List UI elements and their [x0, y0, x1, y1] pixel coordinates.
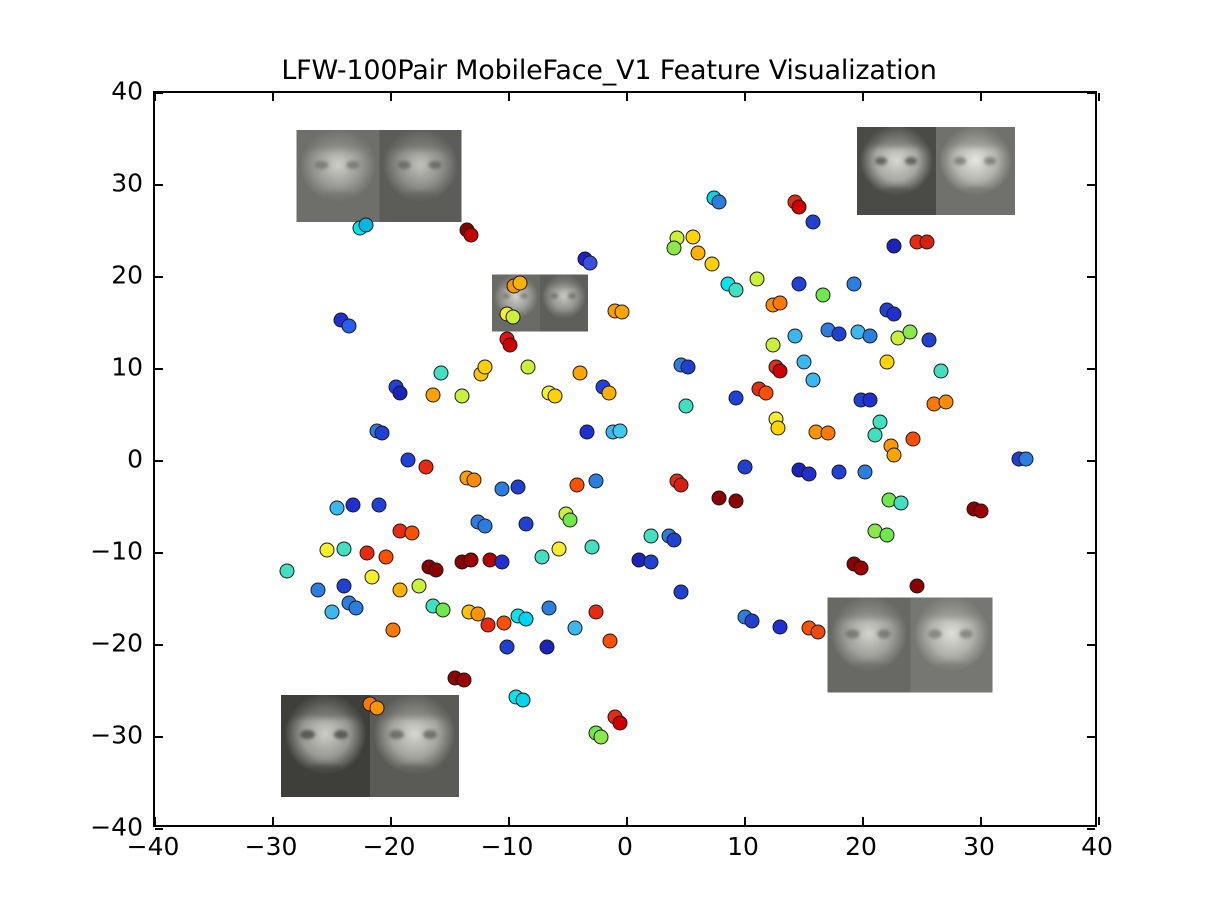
scatter-point: [336, 579, 351, 594]
face-thumb-left: [857, 127, 936, 215]
y-axis-tick-label: −10: [90, 537, 143, 566]
scatter-point: [589, 474, 604, 489]
y-axis-tick: [155, 184, 163, 186]
y-axis-tick: [155, 644, 163, 646]
scatter-point: [499, 639, 514, 654]
scatter-point: [497, 615, 512, 630]
scatter-point: [832, 465, 847, 480]
scatter-point: [612, 423, 627, 438]
scatter-point: [603, 634, 618, 649]
scatter-point: [879, 527, 894, 542]
scatter-point: [712, 194, 727, 209]
scatter-point: [365, 569, 380, 584]
scatter-point: [674, 477, 689, 492]
y-axis-tick-label: 20: [111, 261, 143, 290]
scatter-point: [612, 716, 627, 731]
x-axis-tick: [980, 817, 982, 825]
y-axis-tick: [1087, 736, 1095, 738]
scatter-point: [336, 542, 351, 557]
scatter-point: [667, 240, 682, 255]
scatter-point: [320, 543, 335, 558]
scatter-point: [583, 256, 598, 271]
scatter-point: [563, 512, 578, 527]
y-axis-tick: [1087, 92, 1095, 94]
scatter-point: [325, 604, 340, 619]
scatter-point: [551, 542, 566, 557]
scatter-point: [643, 529, 658, 544]
scatter-point: [503, 338, 518, 353]
x-axis-tick: [980, 93, 982, 101]
scatter-point: [806, 373, 821, 388]
scatter-point: [903, 325, 918, 340]
scatter-point: [512, 276, 527, 291]
scatter-point: [643, 555, 658, 570]
y-axis-tick: [155, 736, 163, 738]
scatter-point: [405, 525, 420, 540]
scatter-point: [728, 494, 743, 509]
scatter-point: [766, 338, 781, 353]
scatter-point: [516, 693, 531, 708]
scatter-point: [820, 426, 835, 441]
scatter-point: [679, 398, 694, 413]
x-axis-tick: [1098, 93, 1100, 101]
y-axis-tick-label: −40: [90, 813, 143, 842]
scatter-plot-area[interactable]: [155, 93, 1095, 825]
y-axis-tick: [1087, 368, 1095, 370]
scatter-point: [1018, 452, 1033, 467]
x-axis-tick: [626, 817, 628, 825]
x-axis-tick: [626, 93, 628, 101]
y-axis-tick: [155, 552, 163, 554]
face-thumb-left: [297, 130, 380, 222]
scatter-point: [412, 579, 427, 594]
x-axis-tick: [390, 93, 392, 101]
x-axis-tick-label: 0: [617, 832, 633, 861]
y-axis-tick: [1087, 460, 1095, 462]
scatter-point: [589, 604, 604, 619]
scatter-point: [379, 549, 394, 564]
y-axis-tick: [1087, 552, 1095, 554]
scatter-point: [938, 395, 953, 410]
scatter-point: [974, 503, 989, 518]
scatter-point: [480, 617, 495, 632]
scatter-point: [728, 391, 743, 406]
scatter-point: [832, 327, 847, 342]
scatter-point: [433, 365, 448, 380]
face-pair-thumb-top-right: [857, 127, 1015, 215]
scatter-point: [704, 257, 719, 272]
x-axis-tick-label: 10: [727, 832, 759, 861]
scatter-point: [690, 246, 705, 261]
scatter-point: [867, 428, 882, 443]
scatter-point: [386, 623, 401, 638]
x-axis-tick: [862, 93, 864, 101]
x-axis-tick: [390, 817, 392, 825]
scatter-point: [893, 496, 908, 511]
y-axis-tick: [155, 828, 163, 830]
x-axis-tick: [744, 93, 746, 101]
face-thumb-left: [281, 695, 370, 797]
scatter-point: [535, 549, 550, 564]
scatter-point: [933, 363, 948, 378]
scatter-point: [435, 603, 450, 618]
scatter-point: [369, 700, 384, 715]
y-axis-tick: [1087, 828, 1095, 830]
scatter-point: [548, 388, 563, 403]
x-axis-tick-label: −10: [481, 832, 534, 861]
scatter-point: [863, 328, 878, 343]
scatter-point: [792, 200, 807, 215]
scatter-point: [478, 360, 493, 375]
scatter-point: [674, 584, 689, 599]
scatter-point: [728, 282, 743, 297]
x-axis-tick-label: 30: [963, 832, 995, 861]
scatter-point: [759, 385, 774, 400]
scatter-point: [712, 490, 727, 505]
face-thumb-right: [540, 274, 588, 331]
scatter-point: [584, 540, 599, 555]
x-axis-tick: [154, 817, 156, 825]
x-axis-tick: [272, 93, 274, 101]
scatter-point: [905, 431, 920, 446]
scatter-point: [792, 277, 807, 292]
scatter-point: [478, 519, 493, 534]
scatter-point: [374, 426, 389, 441]
scatter-point: [594, 730, 609, 745]
y-axis-tick: [1087, 644, 1095, 646]
face-pair-thumb-bottom-right: [828, 598, 993, 693]
x-axis-tick: [508, 93, 510, 101]
scatter-point: [858, 465, 873, 480]
x-axis-tick: [1098, 817, 1100, 825]
face-thumb-left: [828, 598, 911, 693]
scatter-point: [773, 295, 788, 310]
scatter-point: [749, 271, 764, 286]
scatter-point: [359, 218, 374, 233]
y-axis-tick: [155, 460, 163, 462]
scatter-point: [426, 387, 441, 402]
scatter-point: [686, 229, 701, 244]
scatter-point: [346, 498, 361, 513]
scatter-point: [922, 332, 937, 347]
face-thumb-right: [936, 127, 1015, 215]
x-axis-tick-label: 20: [845, 832, 877, 861]
y-axis-tick-label: 10: [111, 353, 143, 382]
scatter-point: [773, 363, 788, 378]
y-axis-tick: [1087, 276, 1095, 278]
scatter-point: [518, 612, 533, 627]
x-axis-tick-label: −20: [363, 832, 416, 861]
scatter-point: [797, 354, 812, 369]
scatter-point: [466, 473, 481, 488]
scatter-point: [919, 235, 934, 250]
x-axis-tick: [862, 817, 864, 825]
scatter-point: [454, 388, 469, 403]
scatter-point: [811, 625, 826, 640]
x-axis-tick-label: 40: [1081, 832, 1113, 861]
scatter-point: [539, 639, 554, 654]
y-axis-tick: [155, 368, 163, 370]
scatter-point: [568, 621, 583, 636]
scatter-point: [579, 424, 594, 439]
scatter-point: [773, 619, 788, 634]
x-axis-tick: [508, 817, 510, 825]
scatter-point: [329, 500, 344, 515]
page-title: LFW-100Pair MobileFace_V1 Feature Visual…: [0, 55, 1218, 86]
scatter-point: [570, 477, 585, 492]
face-thumb-right: [379, 130, 462, 222]
scatter-point: [360, 546, 375, 561]
scatter-point: [542, 601, 557, 616]
scatter-point: [910, 579, 925, 594]
scatter-point: [494, 481, 509, 496]
scatter-point: [771, 420, 786, 435]
scatter-point: [428, 562, 443, 577]
scatter-point: [846, 277, 861, 292]
scatter-point: [745, 614, 760, 629]
scatter-point: [520, 360, 535, 375]
y-axis-tick: [1087, 184, 1095, 186]
scatter-point: [886, 238, 901, 253]
y-axis-tick-label: −30: [90, 721, 143, 750]
scatter-point: [400, 453, 415, 468]
scatter-point: [518, 516, 533, 531]
scatter-point: [310, 582, 325, 597]
y-axis-tick: [155, 276, 163, 278]
scatter-point: [879, 354, 894, 369]
plot-axes: [153, 91, 1097, 827]
scatter-point: [464, 553, 479, 568]
figure-canvas: LFW-100Pair MobileFace_V1 Feature Visual…: [0, 0, 1218, 919]
scatter-point: [457, 672, 472, 687]
x-axis-tick: [154, 93, 156, 101]
face-pair-thumb-top-left: [297, 130, 462, 222]
y-axis-tick: [155, 92, 163, 94]
y-axis-tick-label: 30: [111, 169, 143, 198]
scatter-point: [787, 328, 802, 343]
scatter-point: [886, 448, 901, 463]
scatter-point: [863, 393, 878, 408]
x-axis-tick: [272, 817, 274, 825]
scatter-point: [853, 560, 868, 575]
scatter-point: [738, 459, 753, 474]
scatter-point: [667, 533, 682, 548]
scatter-point: [419, 459, 434, 474]
scatter-point: [393, 385, 408, 400]
scatter-point: [815, 288, 830, 303]
x-axis-tick: [744, 817, 746, 825]
x-axis-tick-label: −30: [245, 832, 298, 861]
scatter-point: [494, 555, 509, 570]
face-thumb-right: [910, 598, 993, 693]
scatter-point: [886, 306, 901, 321]
scatter-point: [801, 466, 816, 481]
scatter-point: [464, 227, 479, 242]
y-axis-tick-label: 40: [111, 77, 143, 106]
scatter-point: [602, 385, 617, 400]
scatter-point: [572, 365, 587, 380]
scatter-point: [348, 601, 363, 616]
scatter-point: [341, 318, 356, 333]
scatter-point: [280, 564, 295, 579]
scatter-point: [505, 310, 520, 325]
scatter-point: [615, 304, 630, 319]
y-axis-tick-label: −20: [90, 629, 143, 658]
scatter-point: [372, 498, 387, 513]
scatter-point: [511, 479, 526, 494]
scatter-point: [393, 582, 408, 597]
scatter-point: [681, 360, 696, 375]
scatter-point: [806, 214, 821, 229]
y-axis-tick-label: 0: [127, 445, 143, 474]
